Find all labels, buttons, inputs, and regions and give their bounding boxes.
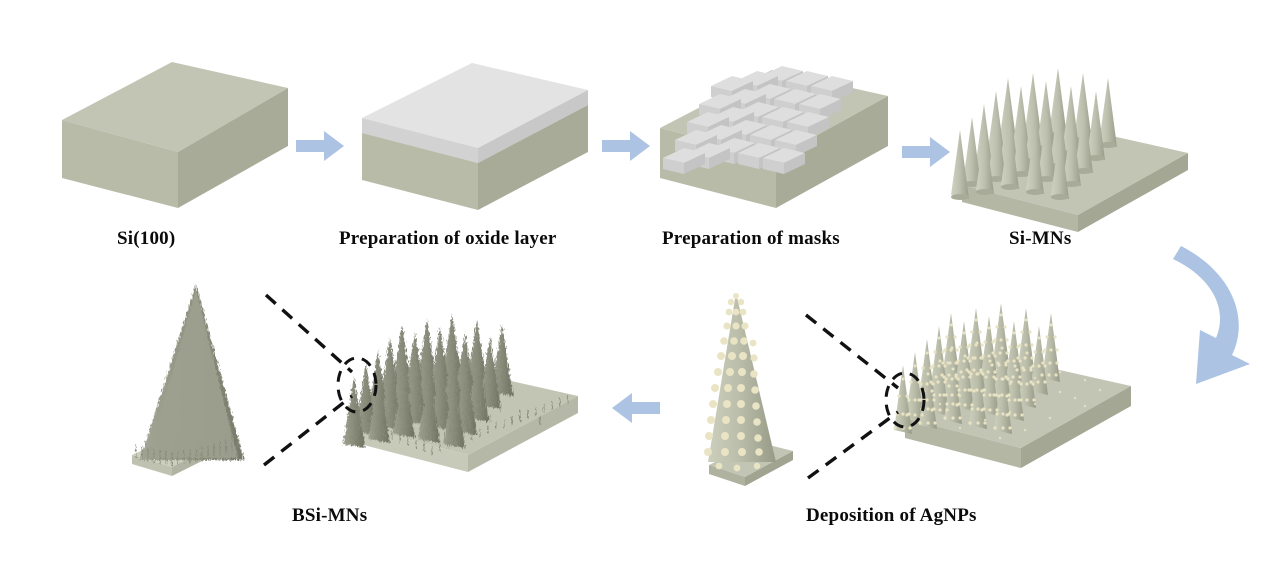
step-label-agnp-deposition: Deposition of AgNPs — [806, 505, 977, 527]
arrow-1-2 — [296, 131, 344, 161]
diagram-artwork — [0, 0, 1269, 577]
arrow-5-6 — [612, 393, 660, 423]
magnified-agnp-cone — [704, 293, 793, 486]
step-6-bsi-mn-array — [343, 314, 578, 472]
process-flow-figure: Si(100) Preparation of oxide layer Prepa… — [0, 0, 1269, 577]
step-4-si-mn-array — [951, 68, 1188, 232]
magnified-bsi-cone — [132, 284, 244, 476]
step-label-si-mns: Si-MNs — [1009, 228, 1071, 250]
step-2-oxide-layer — [362, 63, 588, 210]
step-label-oxide-layer: Preparation of oxide layer — [339, 228, 557, 250]
step-1-silicon-block — [62, 62, 288, 208]
arrow-4-5-curved — [1173, 246, 1250, 384]
arrow-3-4 — [902, 137, 950, 167]
step-label-bsi-mns: BSi-MNs — [292, 505, 367, 527]
step-3-mask-array — [660, 66, 888, 208]
arrow-2-3 — [602, 131, 650, 161]
step-label-masks: Preparation of masks — [662, 228, 840, 250]
step-5-agnp-mn-array — [893, 303, 1131, 468]
step-label-si100: Si(100) — [117, 228, 175, 250]
